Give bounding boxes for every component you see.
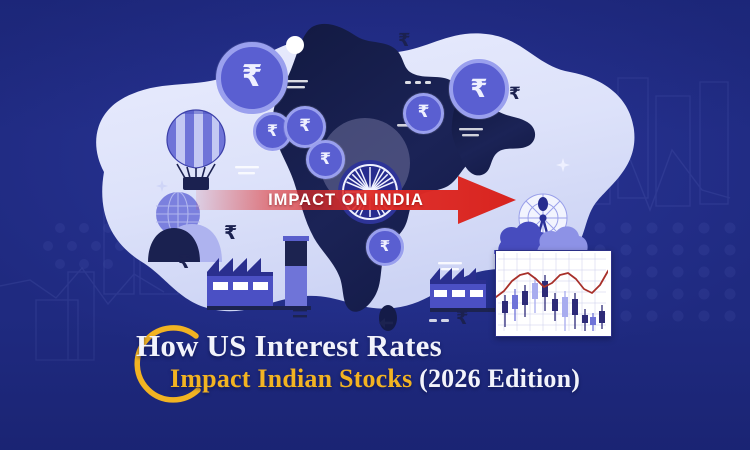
title-block: How US Interest Rates Impact Indian Stoc… bbox=[136, 330, 696, 392]
poster-canvas: ₹ ₹ ₹ ₹ ₹ ₹ ₹ ₹ ₹ ₹ ₹ ₹ bbox=[0, 0, 750, 450]
title-highlight: Impact Indian Stocks bbox=[170, 364, 412, 393]
candlestick-chart-card bbox=[495, 250, 612, 337]
dash-marks bbox=[458, 126, 484, 138]
rupee-symbol: ₹ bbox=[242, 62, 263, 92]
moon-icon bbox=[286, 36, 304, 54]
impact-banner-arrow bbox=[196, 176, 516, 224]
title-edition: (2026 Edition) bbox=[419, 364, 580, 393]
rupee-coin-icon: ₹ bbox=[366, 228, 404, 266]
rupee-symbol: ₹ bbox=[299, 118, 311, 135]
factory-icon bbox=[207, 236, 315, 310]
rupee-coin-icon: ₹ bbox=[216, 42, 288, 114]
rupee-coin-icon: ₹ bbox=[403, 93, 444, 134]
rupee-coin-icon: ₹ bbox=[306, 140, 345, 179]
rupee-symbol: ₹ bbox=[267, 123, 278, 139]
rupee-symbol: ₹ bbox=[470, 76, 487, 101]
rupee-glyph: ₹ bbox=[509, 84, 521, 104]
dash-marks bbox=[429, 318, 455, 324]
rupee-symbol: ₹ bbox=[380, 239, 390, 254]
rupee-symbol: ₹ bbox=[418, 104, 430, 121]
rupee-symbol: ₹ bbox=[320, 151, 331, 167]
sparkle-icon bbox=[556, 158, 570, 172]
title-line-1: How US Interest Rates bbox=[136, 330, 696, 363]
rupee-coin-icon: ₹ bbox=[449, 59, 509, 119]
rupee-glyph: ₹ bbox=[178, 252, 191, 273]
rupee-glyph: ₹ bbox=[398, 30, 411, 51]
dash-marks bbox=[405, 79, 437, 87]
title-line-2: Impact Indian Stocks (2026 Edition) bbox=[136, 365, 696, 392]
rupee-glyph: ₹ bbox=[456, 308, 469, 329]
rupee-glyph: ₹ bbox=[224, 222, 237, 244]
dash-marks bbox=[234, 164, 260, 176]
